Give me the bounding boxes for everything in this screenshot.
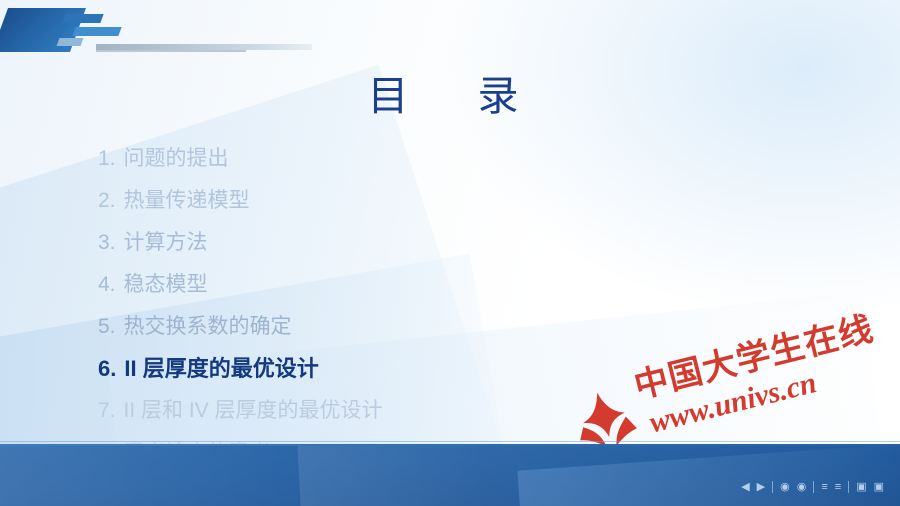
nav-prev-bars[interactable]: ≡ bbox=[821, 482, 827, 493]
toc-item-4[interactable]: 4.稳态模型 bbox=[98, 264, 738, 306]
slide-canvas: 目 录 1.问题的提出 2.热量传递模型 3.计算方法 4.稳态模型 5.热交换… bbox=[0, 0, 900, 506]
toc-item-1[interactable]: 1.问题的提出 bbox=[98, 138, 738, 180]
toc-list: 1.问题的提出 2.热量传递模型 3.计算方法 4.稳态模型 5.热交换系数的确… bbox=[98, 138, 738, 474]
page-title: 目 录 bbox=[0, 62, 900, 122]
toc-item-number: 4. bbox=[98, 273, 116, 296]
toc-item-3[interactable]: 3.计算方法 bbox=[98, 222, 738, 264]
nav-separator-1 bbox=[772, 481, 773, 493]
toc-item-label: 热交换系数的确定 bbox=[124, 315, 292, 338]
band-thin-rule bbox=[0, 441, 900, 442]
toc-item-label: 计算方法 bbox=[124, 231, 208, 254]
toc-item-5[interactable]: 5.热交换系数的确定 bbox=[98, 306, 738, 348]
nav-next-bars[interactable]: ≡ bbox=[835, 482, 841, 493]
logo-stripe-icon-2 bbox=[72, 27, 121, 36]
logo-stripe-icon-3 bbox=[57, 38, 84, 46]
logo-divider-rule-thin bbox=[96, 50, 246, 52]
toc-item-number: 2. bbox=[98, 189, 116, 212]
toc-item-number: 6. bbox=[98, 356, 116, 381]
toc-item-number: 1. bbox=[98, 147, 116, 170]
toc-item-6-active[interactable]: 6.II 层厚度的最优设计 bbox=[98, 348, 738, 390]
toc-item-number: 5. bbox=[98, 315, 116, 338]
toc-item-2[interactable]: 2.热量传递模型 bbox=[98, 180, 738, 222]
nav-prev-square[interactable]: ▣ bbox=[856, 482, 866, 493]
toc-item-number: 7. bbox=[98, 399, 116, 422]
toc-item-label: 稳态模型 bbox=[124, 273, 208, 296]
toc-item-label: 热量传递模型 bbox=[124, 189, 250, 212]
nav-prev-circle[interactable]: ◉ bbox=[780, 482, 790, 493]
toc-item-label: II 层厚度的最优设计 bbox=[124, 356, 318, 381]
logo-stripe-icon-1 bbox=[62, 14, 103, 23]
nav-next-triangle[interactable]: ▶ bbox=[757, 482, 765, 493]
toc-item-7[interactable]: 7.II 层和 IV 层厚度的最优设计 bbox=[98, 390, 738, 432]
nav-prev-triangle[interactable]: ◀ bbox=[741, 482, 749, 493]
logo-mark bbox=[0, 0, 330, 62]
nav-next-circle[interactable]: ◉ bbox=[797, 482, 807, 493]
nav-separator-2 bbox=[813, 481, 814, 493]
toc-item-label: 问题的提出 bbox=[124, 147, 229, 170]
nav-next-square[interactable]: ▣ bbox=[874, 482, 884, 493]
toc-item-label: II 层和 IV 层厚度的最优设计 bbox=[124, 399, 383, 422]
toc-item-number: 3. bbox=[98, 231, 116, 254]
nav-controls[interactable]: ◀ ▶ ◉ ◉ ≡ ≡ ▣ ▣ bbox=[741, 476, 884, 498]
nav-separator-3 bbox=[848, 481, 849, 493]
